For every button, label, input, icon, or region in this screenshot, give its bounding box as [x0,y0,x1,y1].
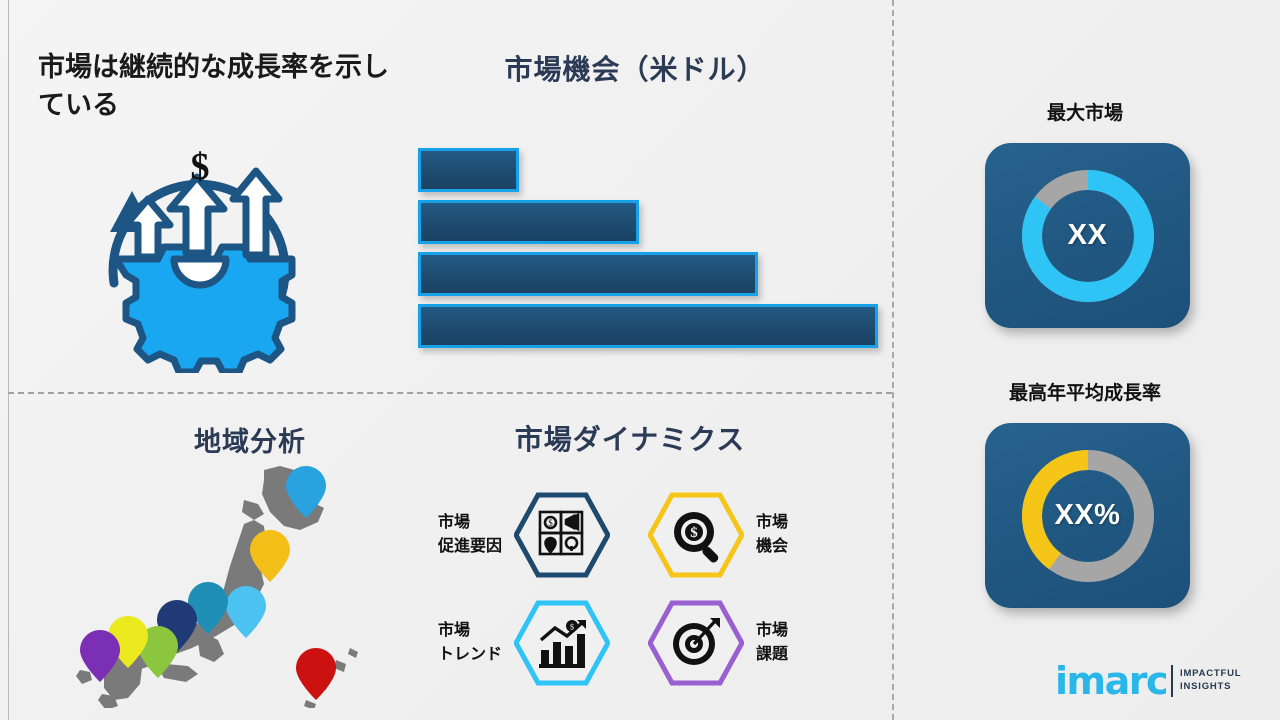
bar-row [418,200,878,252]
target-dart-icon [648,600,744,686]
left-border-rule [8,0,9,720]
svg-text:$: $ [690,525,698,541]
bar-4 [418,304,878,348]
dynamics-label-trends: 市場 トレンド [438,619,502,667]
largest-market-label: 最大市場 [955,98,1215,125]
dynamics-item-opportunity[interactable]: $ 市場 機会 [648,492,863,578]
pin-okinawa [296,648,336,700]
logo-tagline-line2: INSIGHTS [1180,681,1241,694]
bar-row [418,252,878,304]
largest-market-card: XX [985,143,1190,328]
bar-1 [418,148,519,192]
pin-kanto [226,586,266,638]
logo-divider [1171,665,1173,697]
bar-chart-growth-icon: $ [514,600,610,686]
slide-canvas: 市場は継続的な成長率を示している $ 市場機会（米ドル） [0,0,1280,720]
dynamics-item-challenges[interactable]: 市場 課題 [648,600,863,686]
market-opportunity-bar-chart [418,148,878,353]
horizontal-dashed-divider [8,392,892,394]
largest-market-donut [1013,161,1163,311]
imarc-wordmark: imarc [1055,662,1167,700]
growth-headline: 市場は継続的な成長率を示している [38,48,398,125]
bar-2 [418,200,639,244]
magnifier-dollar-icon: $ [648,492,744,578]
vertical-dashed-divider [892,0,894,720]
logo-tagline: IMPACTFUL INSIGHTS [1180,668,1241,694]
highest-cagr-label: 最高年平均成長率 [955,378,1215,405]
japan-map [58,458,388,708]
growth-cycle-gear-icon: $ [74,133,326,373]
dollar-symbol: $ [191,146,210,188]
highest-cagr-donut [1013,441,1163,591]
dynamics-label-challenges: 市場 課題 [756,619,788,667]
bar-row [418,304,878,356]
dynamics-label-drivers: 市場 促進要因 [438,511,502,559]
logo-tagline-line1: IMPACTFUL [1180,668,1241,681]
dynamics-item-drivers[interactable]: 市場 促進要因 $ [405,492,610,578]
svg-text:$: $ [570,623,574,632]
dynamics-label-opportunity: 市場 機会 [756,511,788,559]
market-dynamics-title: 市場ダイナミクス [455,418,805,458]
imarc-logo: imarc IMPACTFUL INSIGHTS [1055,662,1241,700]
highest-cagr-card: XX% [985,423,1190,608]
regional-analysis-title: 地域分析 [140,420,360,459]
bar-3 [418,252,758,296]
bar-chart-title: 市場機会（米ドル） [420,48,850,88]
bar-row [418,148,878,200]
puzzle-pieces-icon: $ [514,492,610,578]
dynamics-item-trends[interactable]: 市場 トレンド $ [405,600,610,686]
svg-text:$: $ [548,518,553,528]
